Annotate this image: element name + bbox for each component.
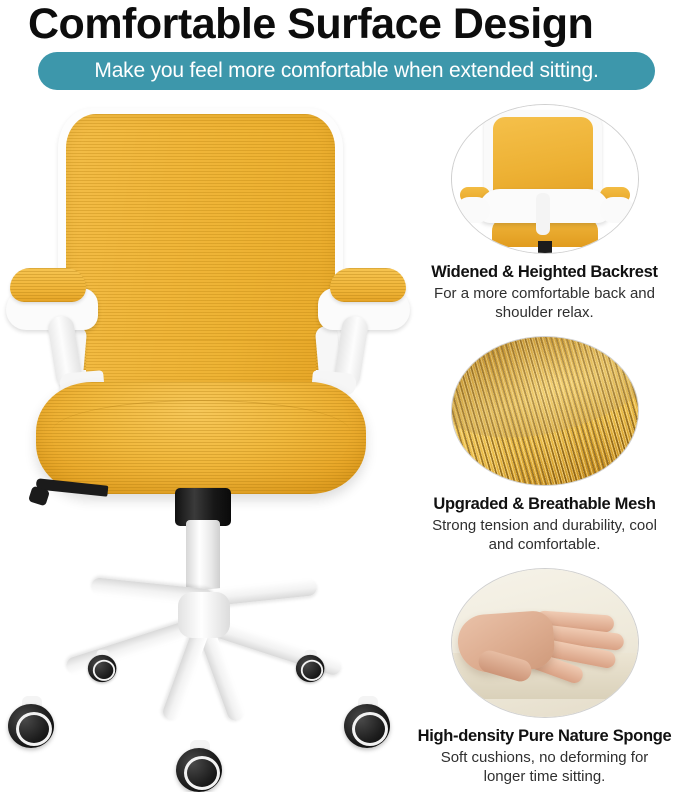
feature-description: Soft cushions, no deforming for longer t… <box>410 748 679 786</box>
caster-rim <box>301 660 323 681</box>
feature-item-sponge: High-density Pure Nature Sponge Soft cus… <box>410 568 679 786</box>
mesh-highlight <box>451 336 639 462</box>
caster-wheel <box>88 650 120 682</box>
subtitle-banner-text: Make you feel more comfortable when exte… <box>94 59 598 83</box>
feature-description: For a more comfortable back and shoulder… <box>410 284 679 322</box>
caster-wheel <box>296 650 328 682</box>
feature-list: Widened & Heighted Backrest For a more c… <box>410 104 679 786</box>
base-hub <box>178 592 230 638</box>
rear-center-bar <box>536 193 550 235</box>
rear-backrest-mesh <box>493 117 593 199</box>
armrest-pad <box>10 268 86 302</box>
armrest-left <box>4 268 108 388</box>
hand-pressing-foam-photo <box>451 568 639 718</box>
caster-rim <box>93 660 115 681</box>
caster-rim <box>184 756 220 790</box>
product-infographic: Comfortable Surface Design Make you feel… <box>0 0 679 726</box>
armrest-pad <box>330 268 406 302</box>
armrest-right <box>308 268 412 388</box>
feature-title: Widened & Heighted Backrest <box>410 263 679 282</box>
feature-title: Upgraded & Breathable Mesh <box>410 495 679 514</box>
caster-rim <box>352 712 388 746</box>
rear-armrest-shell <box>456 197 490 223</box>
subtitle-banner: Make you feel more comfortable when exte… <box>38 52 655 90</box>
caster-rim <box>16 712 52 746</box>
feature-description: Strong tension and durability, cool and … <box>410 516 679 554</box>
caster-wheel <box>344 696 396 748</box>
chair-illustration <box>0 100 420 726</box>
feature-item-backrest: Widened & Heighted Backrest For a more c… <box>410 104 679 322</box>
mesh-fabric-macro-photo <box>451 336 639 486</box>
caster-wheel <box>176 740 228 792</box>
page-title: Comfortable Surface Design <box>28 0 668 50</box>
feature-title: High-density Pure Nature Sponge <box>410 727 679 746</box>
rear-cylinder <box>538 241 552 253</box>
rear-armrest-shell <box>600 197 634 223</box>
chair-rear-view-photo <box>451 104 639 254</box>
feature-item-mesh: Upgraded & Breathable Mesh Strong tensio… <box>410 336 679 554</box>
caster-wheel <box>8 696 60 748</box>
seat-seam <box>52 400 350 463</box>
